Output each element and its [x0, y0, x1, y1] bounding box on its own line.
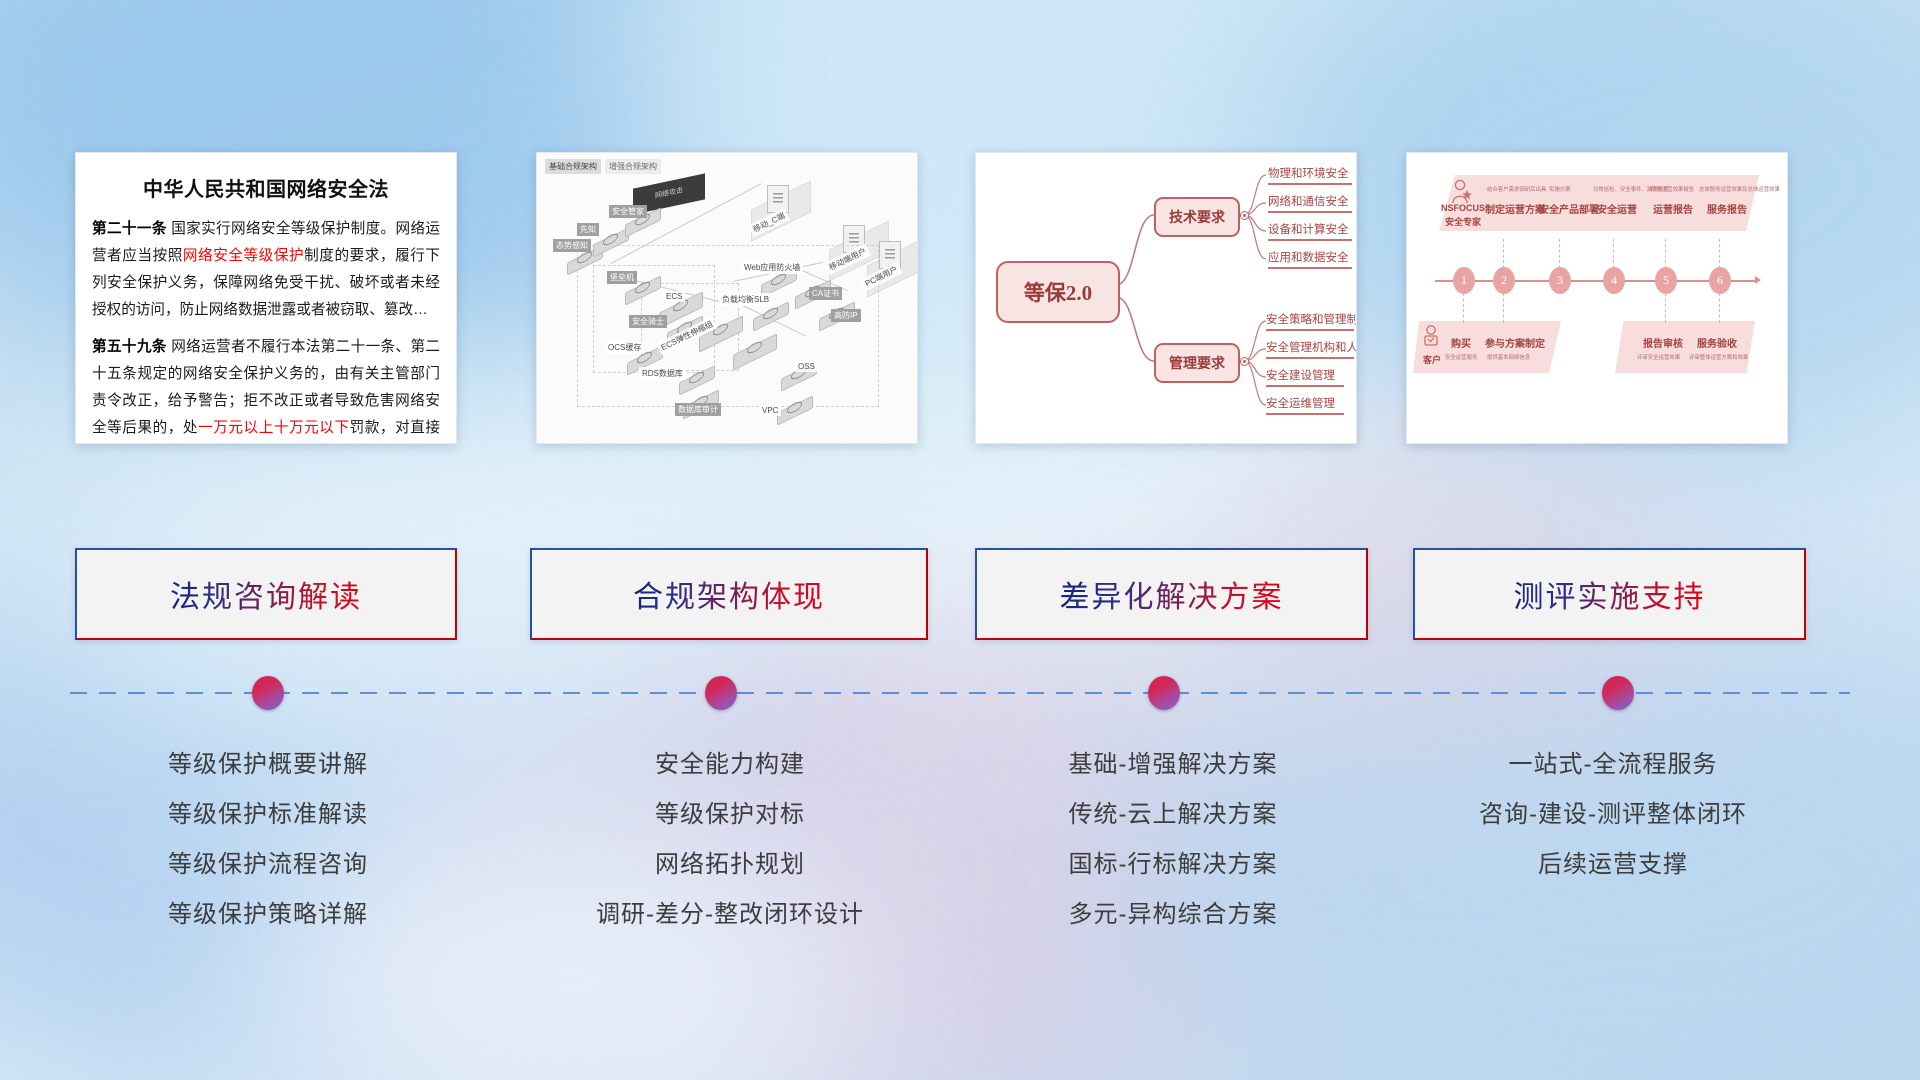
mindmap-leaf: 网络和通信安全	[1268, 193, 1352, 213]
architecture-tab-group: 基础合规架构 增强合规架构	[545, 159, 661, 174]
list-item: 等级保护概要讲解	[78, 740, 458, 790]
list-item: 网络拓扑规划	[540, 840, 920, 890]
timeline-marker-1[interactable]	[252, 676, 284, 710]
list-item: 咨询-建设-测评整体闭环	[1423, 790, 1803, 840]
article-21-label: 第二十一条	[92, 221, 167, 237]
architecture-node-label: 先知	[577, 223, 599, 236]
list-item: 一站式-全流程服务	[1423, 740, 1803, 790]
service-timeline-card: NSFOCUS 安全专家 客户 1 2 3 4 5 6	[1406, 152, 1788, 444]
timeline-marker-3[interactable]	[1148, 676, 1180, 710]
section-items-1: 等级保护概要讲解 等级保护标准解读 等级保护流程咨询 等级保护策略详解	[78, 740, 458, 940]
architecture-node-label: Web应用防火墙	[741, 261, 803, 274]
timeline-step-sub: 评审整体运营方案和效果	[1689, 353, 1748, 361]
customer-avatar-icon	[1421, 325, 1443, 351]
timeline-step-main: 参与方案制定	[1485, 335, 1545, 350]
mindmap-leaf: 安全建设管理	[1266, 367, 1344, 387]
mindmap-canvas: 等保2.0 技术要求 物理和环境安全 网络和通信安全 设备和计算安全 应用和数据…	[976, 153, 1356, 443]
law-card-body: 中华人民共和国网络安全法 第二十一条 国家实行网络安全等级保护制度。网络运营者应…	[76, 153, 456, 443]
timeline-step-main: 安全产品部署	[1539, 201, 1599, 216]
mindmap-collapse-icon[interactable]	[1240, 357, 1249, 366]
architecture-node-label: 负载均衡SLB	[719, 293, 772, 306]
timeline-step-main: 服务验收	[1697, 335, 1737, 350]
list-item: 等级保护对标	[540, 790, 920, 840]
expert-name: NSFOCUS	[1441, 203, 1485, 213]
architecture-diagram-card: 基础合规架构 增强合规架构 网络攻击 移动_C端 移动端用户 PC端用户	[536, 152, 918, 444]
architecture-server-icon	[767, 185, 789, 213]
timeline-tick	[1503, 293, 1505, 323]
mindmap-leaf: 应用和数据安全	[1268, 249, 1352, 269]
architecture-node-icon	[753, 305, 787, 325]
timeline-marker-2[interactable]	[705, 676, 737, 710]
architecture-tab-enhanced[interactable]: 增强合规架构	[605, 159, 661, 174]
section-title-4: 测评实施支持	[1514, 572, 1706, 616]
timeline-step-dot[interactable]: 2	[1493, 267, 1515, 294]
list-item: 国标-行标解决方案	[983, 840, 1363, 890]
architecture-node-icon	[737, 339, 771, 359]
illustration-card-row: 中华人民共和国网络安全法 第二十一条 国家实行网络安全等级保护制度。网络运营者应…	[0, 0, 1920, 450]
law-card-title: 中华人民共和国网络安全法	[92, 173, 440, 202]
list-item: 等级保护策略详解	[78, 890, 458, 940]
timeline-step-dot[interactable]: 3	[1549, 267, 1571, 294]
section-title-2: 合规架构体现	[633, 572, 825, 616]
section-title-3: 差异化解决方案	[1060, 572, 1284, 616]
section-title-box-2[interactable]: 合规架构体现	[530, 548, 928, 640]
list-item: 后续运营支撑	[1423, 840, 1803, 890]
timeline-step-sub: 安全运营服务	[1445, 353, 1477, 361]
section-title-box-4[interactable]: 测评实施支持	[1413, 548, 1806, 640]
article-21-highlight: 网络安全等级保护	[183, 248, 304, 264]
architecture-node-icon	[777, 399, 811, 419]
mindmap-card: 等保2.0 技术要求 物理和环境安全 网络和通信安全 设备和计算安全 应用和数据…	[975, 152, 1357, 444]
list-item: 多元-异构综合方案	[983, 890, 1363, 940]
timeline-step-sub: 评审安全运营效果	[1637, 353, 1680, 361]
list-item: 等级保护流程咨询	[78, 840, 458, 890]
article-59-label: 第五十九条	[92, 339, 167, 355]
architecture-node-label: 堡垒机	[607, 271, 637, 284]
timeline-tick	[1719, 293, 1721, 323]
architecture-node-label: 高防IP	[831, 309, 861, 322]
timeline-step-sub: 实施方案	[1549, 185, 1571, 193]
article-59-highlight-1: 一万元以上十万元以下	[198, 420, 350, 436]
timeline-step-main: 运营报告	[1653, 201, 1693, 216]
timeline-step-main: 报告审核	[1643, 335, 1683, 350]
architecture-node-label: ECS	[663, 291, 685, 302]
mindmap-leaf: 物理和环境安全	[1268, 165, 1352, 185]
timeline-step-dot[interactable]: 6	[1709, 267, 1731, 294]
architecture-node-label: 数据库审计	[675, 403, 721, 416]
architecture-node-label: RDS数据库	[639, 367, 686, 380]
section-items-4: 一站式-全流程服务 咨询-建设-测评整体闭环 后续运营支撑	[1423, 740, 1803, 890]
timeline-step-dot[interactable]: 4	[1603, 267, 1625, 294]
mindmap-root-node[interactable]: 等保2.0	[996, 261, 1120, 323]
timeline-step-main: 安全运营	[1597, 201, 1637, 216]
law-article-21: 第二十一条 国家实行网络安全等级保护制度。网络运营者应当按照网络安全等级保护制度…	[92, 216, 440, 324]
timeline-marker-4[interactable]	[1602, 676, 1634, 710]
list-item: 调研-差分-整改闭环设计	[540, 890, 920, 940]
timeline-arrow-icon	[1755, 276, 1761, 284]
mindmap-leaf: 设备和计算安全	[1268, 221, 1352, 241]
timeline-step-sub: 阶段运营效果报告	[1651, 185, 1694, 193]
timeline-step-dot[interactable]: 1	[1453, 267, 1475, 294]
expert-avatar-icon	[1449, 179, 1473, 205]
mindmap-branch-technical[interactable]: 技术要求	[1154, 197, 1240, 237]
service-timeline-canvas: NSFOCUS 安全专家 客户 1 2 3 4 5 6	[1407, 153, 1787, 443]
section-items-3: 基础-增强解决方案 传统-云上解决方案 国标-行标解决方案 多元-异构综合方案	[983, 740, 1363, 940]
architecture-node-label: 安全骑士	[629, 315, 667, 328]
architecture-node-label: 态势感知	[553, 239, 591, 252]
customer-role: 客户	[1423, 353, 1441, 366]
architecture-node-label: OCS缓存	[605, 341, 644, 354]
architecture-node-label: CA证书	[809, 287, 842, 300]
list-item: 安全能力构建	[540, 740, 920, 790]
law-article-59: 第五十九条 网络运营者不履行本法第二十一条、第二十五条规定的网络安全保护义务的，…	[92, 334, 440, 444]
architecture-node-label: OSS	[795, 361, 818, 372]
law-text-card: 中华人民共和国网络安全法 第二十一条 国家实行网络安全等级保护制度。网络运营者应…	[75, 152, 457, 444]
mindmap-leaf: 安全策略和管理制度	[1266, 311, 1354, 331]
timeline-tick	[1665, 293, 1667, 323]
architecture-tab-basic[interactable]: 基础合规架构	[545, 159, 601, 174]
list-item: 传统-云上解决方案	[983, 790, 1363, 840]
timeline-step-dot[interactable]: 5	[1655, 267, 1677, 294]
mindmap-collapse-icon[interactable]	[1240, 211, 1249, 220]
timeline-step-main: 购买	[1451, 335, 1471, 350]
timeline-step-sub: 总体服务运营效果及总体运营效果	[1699, 185, 1780, 193]
architecture-node-label: 安全管家	[609, 205, 647, 218]
timeline-step-main: 服务报告	[1707, 201, 1747, 216]
timeline-step-sub: 提供基本网络信息	[1487, 353, 1530, 361]
section-title-box-1[interactable]: 法规咨询解读	[75, 548, 457, 640]
timeline-tick	[1463, 293, 1465, 323]
mindmap-leaf: 安全运维管理	[1266, 395, 1344, 415]
list-item: 等级保护标准解读	[78, 790, 458, 840]
timeline-step-main: 制定运营方案	[1485, 201, 1545, 216]
section-title-1: 法规咨询解读	[170, 572, 362, 616]
mindmap-leaf: 安全管理机构和人员	[1266, 339, 1354, 359]
section-title-box-3[interactable]: 差异化解决方案	[975, 548, 1368, 640]
mindmap-branch-management[interactable]: 管理要求	[1154, 343, 1240, 383]
timeline-step-sub: 结合客户需求调研后出具	[1487, 185, 1546, 193]
architecture-canvas: 基础合规架构 增强合规架构 网络攻击 移动_C端 移动端用户 PC端用户	[537, 153, 917, 443]
section-items-2: 安全能力构建 等级保护对标 网络拓扑规划 调研-差分-整改闭环设计	[540, 740, 920, 940]
list-item: 基础-增强解决方案	[983, 740, 1363, 790]
architecture-node-label: VPC	[759, 405, 781, 416]
architecture-node-icon	[761, 271, 795, 291]
expert-role: 安全专家	[1445, 215, 1481, 228]
dashed-timeline	[70, 692, 1850, 694]
